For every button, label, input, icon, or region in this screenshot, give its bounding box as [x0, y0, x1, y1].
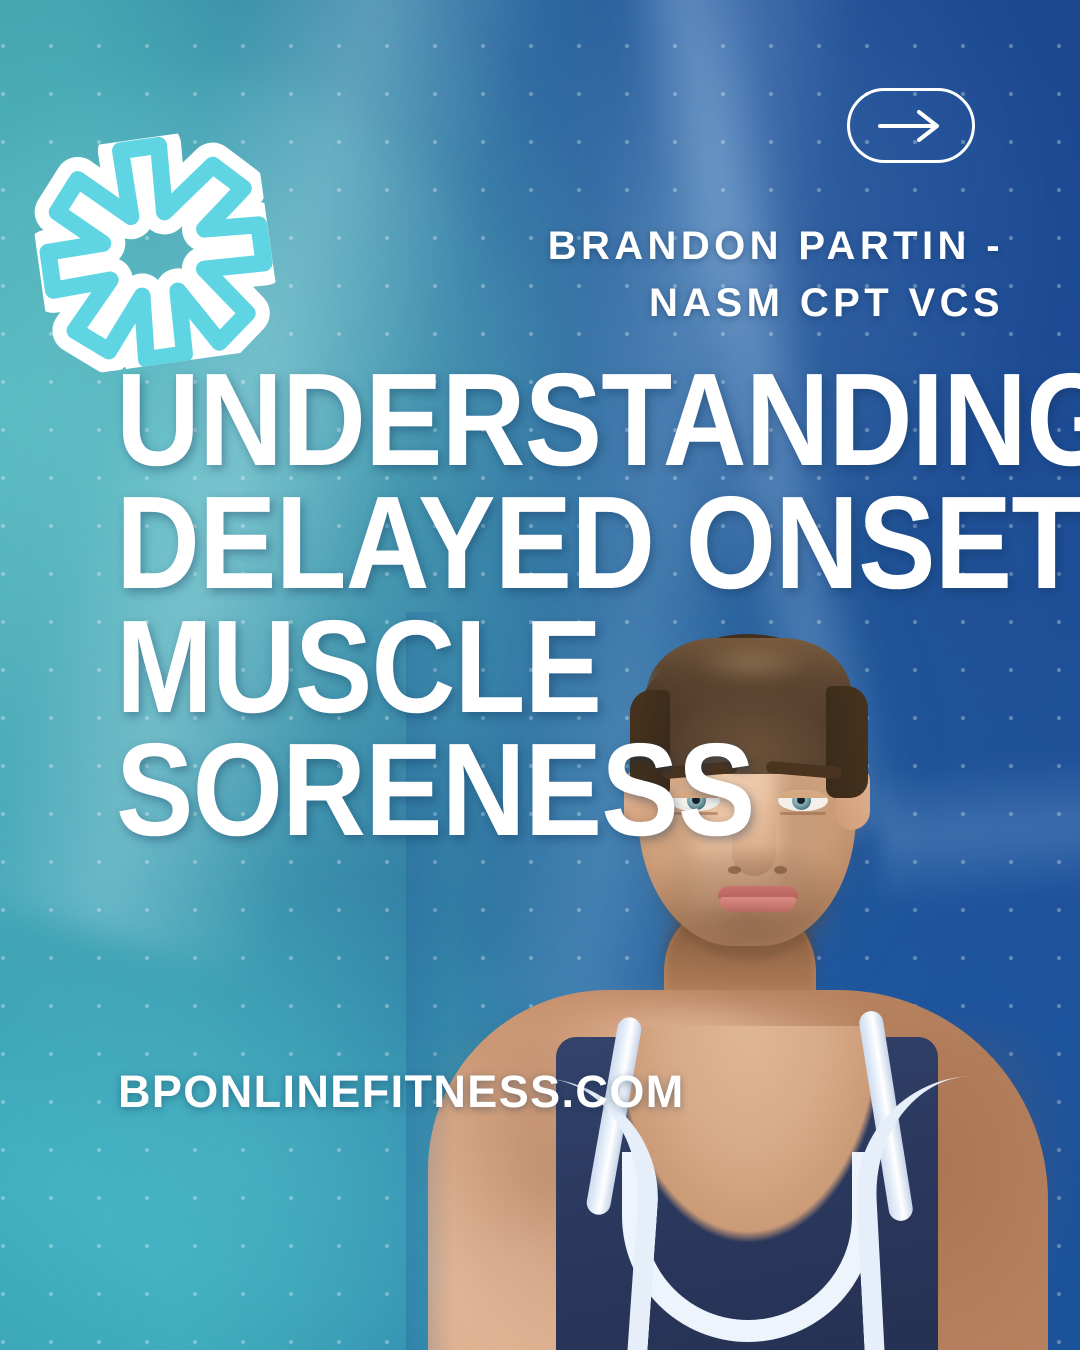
headline-line-4: SORENESS [116, 728, 908, 851]
asterisk-star-icon [23, 123, 284, 379]
next-slide-button[interactable] [847, 88, 975, 163]
page-title: UNDERSTANDING DELAYED ONSET MUSCLE SOREN… [116, 358, 908, 852]
headline-line-2: DELAYED ONSET [116, 481, 908, 604]
headline-line-3: MUSCLE [116, 605, 908, 728]
author-credentials: BRANDON PARTIN - NASM CPT VCS [380, 218, 1004, 332]
jaw-shading [650, 912, 846, 972]
author-certification-line: NASM CPT VCS [380, 275, 1004, 332]
website-url[interactable]: BPONLINEFITNESS.COM [118, 1066, 685, 1118]
lower-lip [720, 897, 796, 912]
arrow-right-icon [878, 109, 944, 143]
headline-line-1: UNDERSTANDING [116, 358, 908, 481]
author-name-line: BRANDON PARTIN - [380, 218, 1004, 275]
social-post-canvas: BRANDON PARTIN - NASM CPT VCS UNDERSTAND… [0, 0, 1080, 1350]
